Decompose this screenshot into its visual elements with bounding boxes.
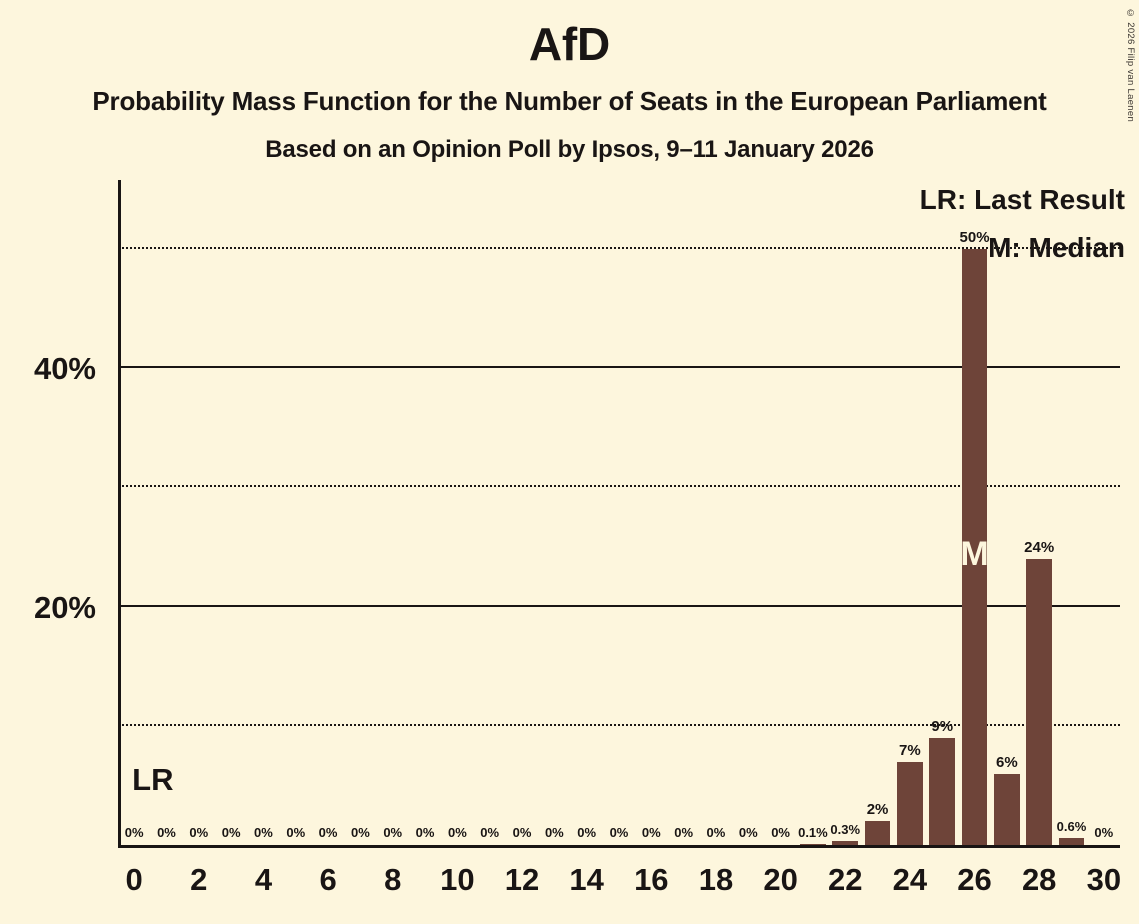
y-axis-line	[118, 180, 121, 848]
x-axis-tick-30: 30	[1064, 863, 1139, 896]
bar-seat-24	[897, 762, 923, 845]
bar-seat-25	[929, 738, 955, 845]
bar-value-label-seat-30: 0%	[1073, 825, 1134, 841]
page-title: AfD	[0, 18, 1139, 70]
last-result-marker: LR	[132, 764, 173, 795]
bar-value-label-seat-28: 24%	[1008, 540, 1069, 556]
x-axis-line	[118, 845, 1120, 848]
bar-seat-27	[994, 774, 1020, 846]
chart-subtitle-primary: Probability Mass Function for the Number…	[0, 85, 1139, 117]
bar-seat-28	[1026, 559, 1052, 845]
bar-value-label-seat-26: 50%	[944, 230, 1005, 246]
y-axis-tick-20%: 20%	[0, 592, 96, 623]
chart-root: AfD Probability Mass Function for the Nu…	[0, 0, 1139, 924]
copyright-notice: © 2026 Filip van Laenen	[1125, 8, 1136, 122]
bar-seat-23	[865, 821, 891, 845]
y-axis-tick-40%: 40%	[0, 353, 96, 384]
median-marker: M	[942, 537, 1007, 571]
chart-subtitle-secondary: Based on an Opinion Poll by Ipsos, 9–11 …	[0, 135, 1139, 165]
plot-area: 20%40% 0%0%0%0%0%0%0%0%0%0%0%0%0%0%0%0%0…	[118, 180, 1120, 848]
